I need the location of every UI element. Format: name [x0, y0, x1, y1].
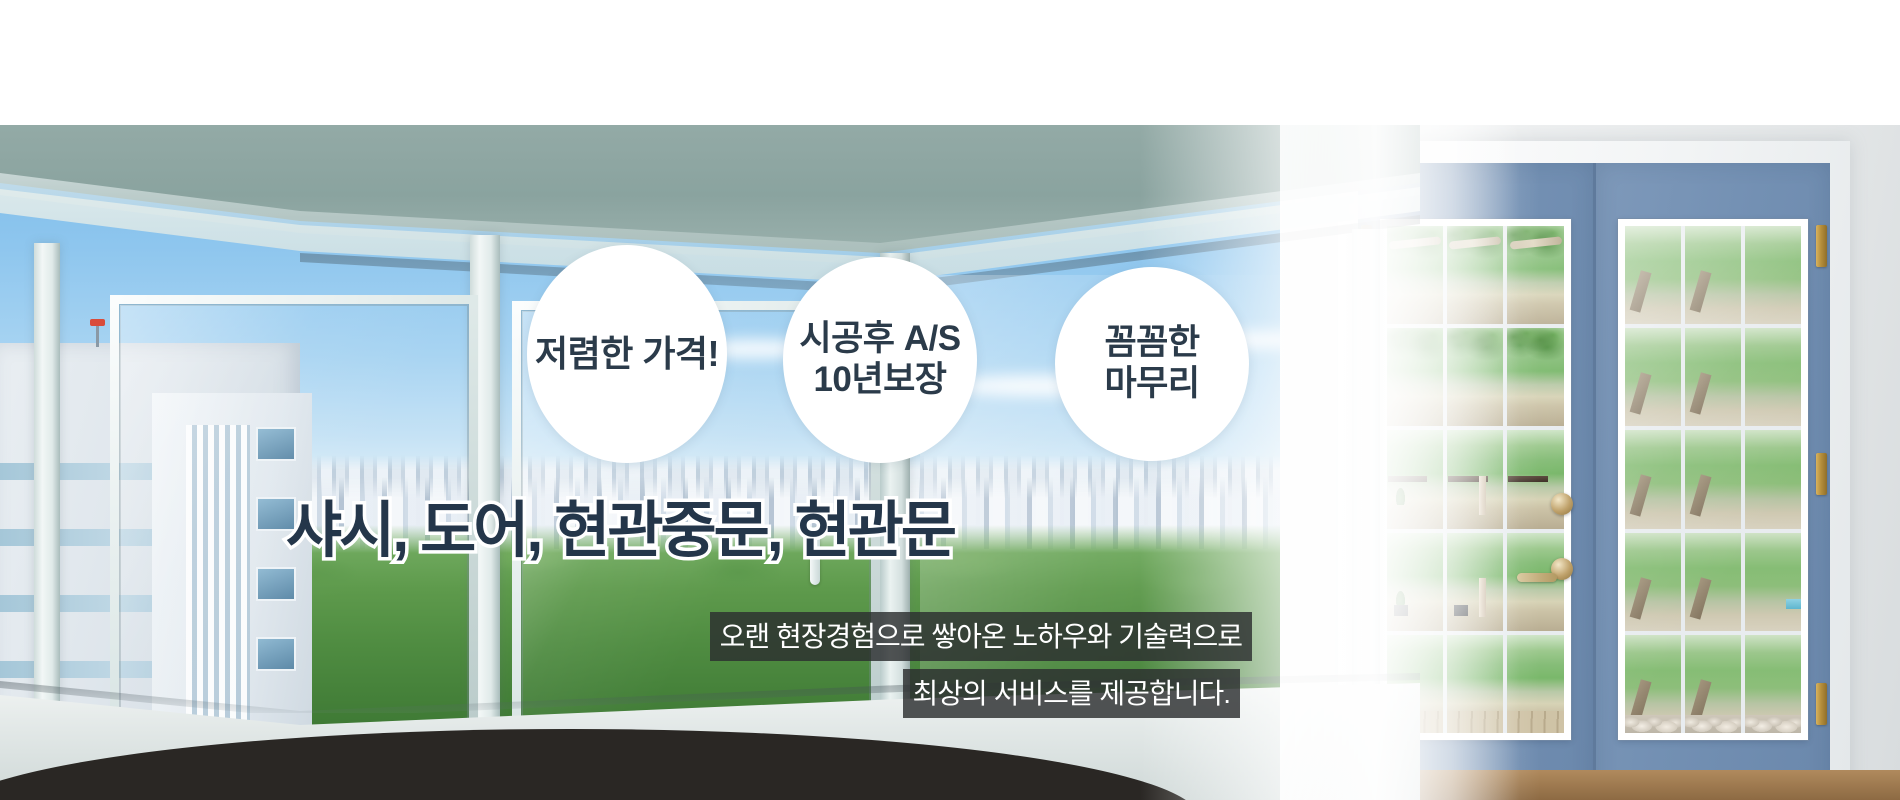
- subtitle-line-1: 오랜 현장경험으로 쌓아온 노하우와 기술력으로: [710, 612, 1252, 661]
- badge-warranty-line1: 시공후 A/S: [799, 319, 960, 360]
- badge-price[interactable]: 저렴한 가격!: [527, 245, 727, 463]
- badge-finish-line1: 꼼꼼한: [1104, 323, 1199, 364]
- text-overlay: 저렴한 가격! 시공후 A/S 10년보장 꼼꼼한 마무리 샤시, 도어, 현관…: [0, 125, 1900, 800]
- badge-price-line1: 저렴한 가격!: [535, 333, 719, 375]
- badge-finish-line2: 마무리: [1104, 364, 1199, 405]
- badge-warranty[interactable]: 시공후 A/S 10년보장: [783, 257, 977, 463]
- top-white-band: [0, 0, 1900, 125]
- subtitle-block: 오랜 현장경험으로 쌓아온 노하우와 기술력으로 최상의 서비스를 제공합니다.: [0, 612, 1252, 718]
- page-title: 샤시, 도어, 현관중문, 현관문: [0, 480, 1240, 569]
- hero-banner: 저렴한 가격! 시공후 A/S 10년보장 꼼꼼한 마무리 샤시, 도어, 현관…: [0, 0, 1900, 800]
- subtitle-line-2: 최상의 서비스를 제공합니다.: [903, 669, 1240, 718]
- badge-warranty-line2: 10년보장: [799, 360, 960, 401]
- badge-finish[interactable]: 꼼꼼한 마무리: [1055, 267, 1249, 461]
